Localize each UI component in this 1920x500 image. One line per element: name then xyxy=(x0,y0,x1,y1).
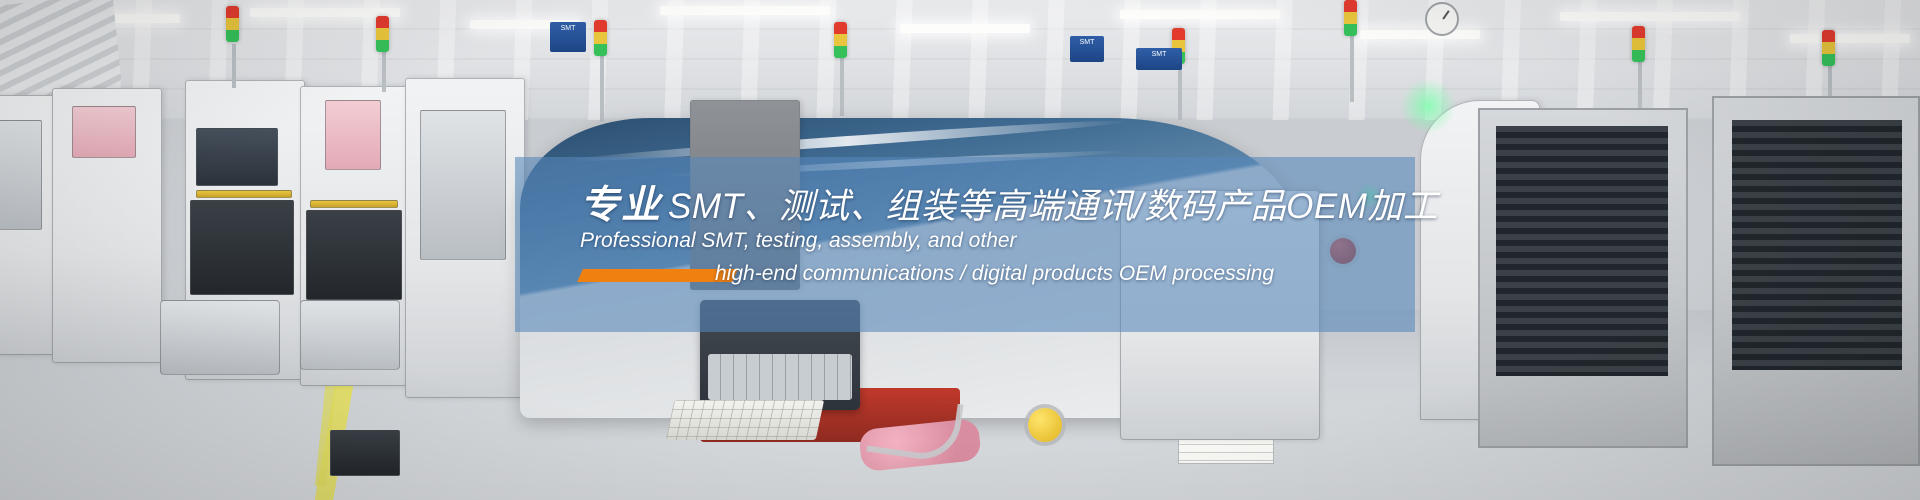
tower-pole xyxy=(840,58,844,116)
tower-pole xyxy=(382,52,386,92)
tower-pole xyxy=(600,56,604,122)
machine-panel xyxy=(330,430,400,476)
signal-tower-light xyxy=(834,22,847,58)
tower-pole xyxy=(1638,62,1642,114)
keyboard xyxy=(666,400,825,440)
machine-panel xyxy=(300,300,400,370)
status-indicator-glow xyxy=(1400,78,1456,134)
signal-tower-light xyxy=(1344,0,1357,36)
headline-emphasis: 专业 xyxy=(580,184,668,227)
orange-accent-bar xyxy=(577,269,738,282)
tower-pole xyxy=(1178,64,1182,120)
ceiling-light xyxy=(1790,34,1910,43)
banner-caption: 专业SMT、测试、组装等高端通讯/数码产品OEM加工 Professional … xyxy=(515,157,1415,332)
tower-pole xyxy=(232,44,236,88)
signal-tower-light xyxy=(1632,26,1645,62)
ceiling-light xyxy=(660,6,830,15)
machine-button-row xyxy=(708,354,852,400)
signal-tower-light xyxy=(1822,30,1835,66)
machine-panel xyxy=(72,106,136,158)
machine-panel xyxy=(310,200,398,208)
signal-tower-light xyxy=(226,6,239,42)
machine-panel xyxy=(196,190,292,198)
banner-subtitle-line1: Professional SMT, testing, assembly, and… xyxy=(580,229,1017,253)
machine-display xyxy=(196,128,278,186)
machine-panel xyxy=(160,300,280,375)
rack-shelf-grid xyxy=(1732,120,1902,370)
ceiling-light xyxy=(1560,12,1740,21)
banner-headline: 专业SMT、测试、组装等高端通讯/数码产品OEM加工 xyxy=(580,174,1438,230)
rack-shelf-grid xyxy=(1496,126,1668,376)
tower-pole xyxy=(1350,26,1354,102)
headline-rest: SMT、测试、组装等高端通讯/数码产品OEM加工 xyxy=(668,187,1438,226)
machine-panel xyxy=(190,200,294,295)
hanging-sign: SMT xyxy=(550,22,586,52)
emergency-stop-button xyxy=(1028,408,1062,442)
ceiling-light xyxy=(1120,10,1280,19)
hanging-sign: SMT xyxy=(1136,48,1182,70)
ceiling-light xyxy=(900,24,1030,33)
machine-panel xyxy=(420,110,506,260)
machine-panel xyxy=(325,100,381,170)
ceiling-light xyxy=(1360,30,1480,39)
signal-tower-light xyxy=(376,16,389,52)
wall-clock xyxy=(1425,2,1459,36)
signal-tower-light xyxy=(594,20,607,56)
banner-stage: SMT SMT SMT 专 xyxy=(0,0,1920,500)
machine-panel xyxy=(0,120,42,230)
machine-panel xyxy=(306,210,402,300)
banner-subtitle-line2: high-end communications / digital produc… xyxy=(715,262,1274,286)
hanging-sign: SMT xyxy=(1070,36,1104,62)
